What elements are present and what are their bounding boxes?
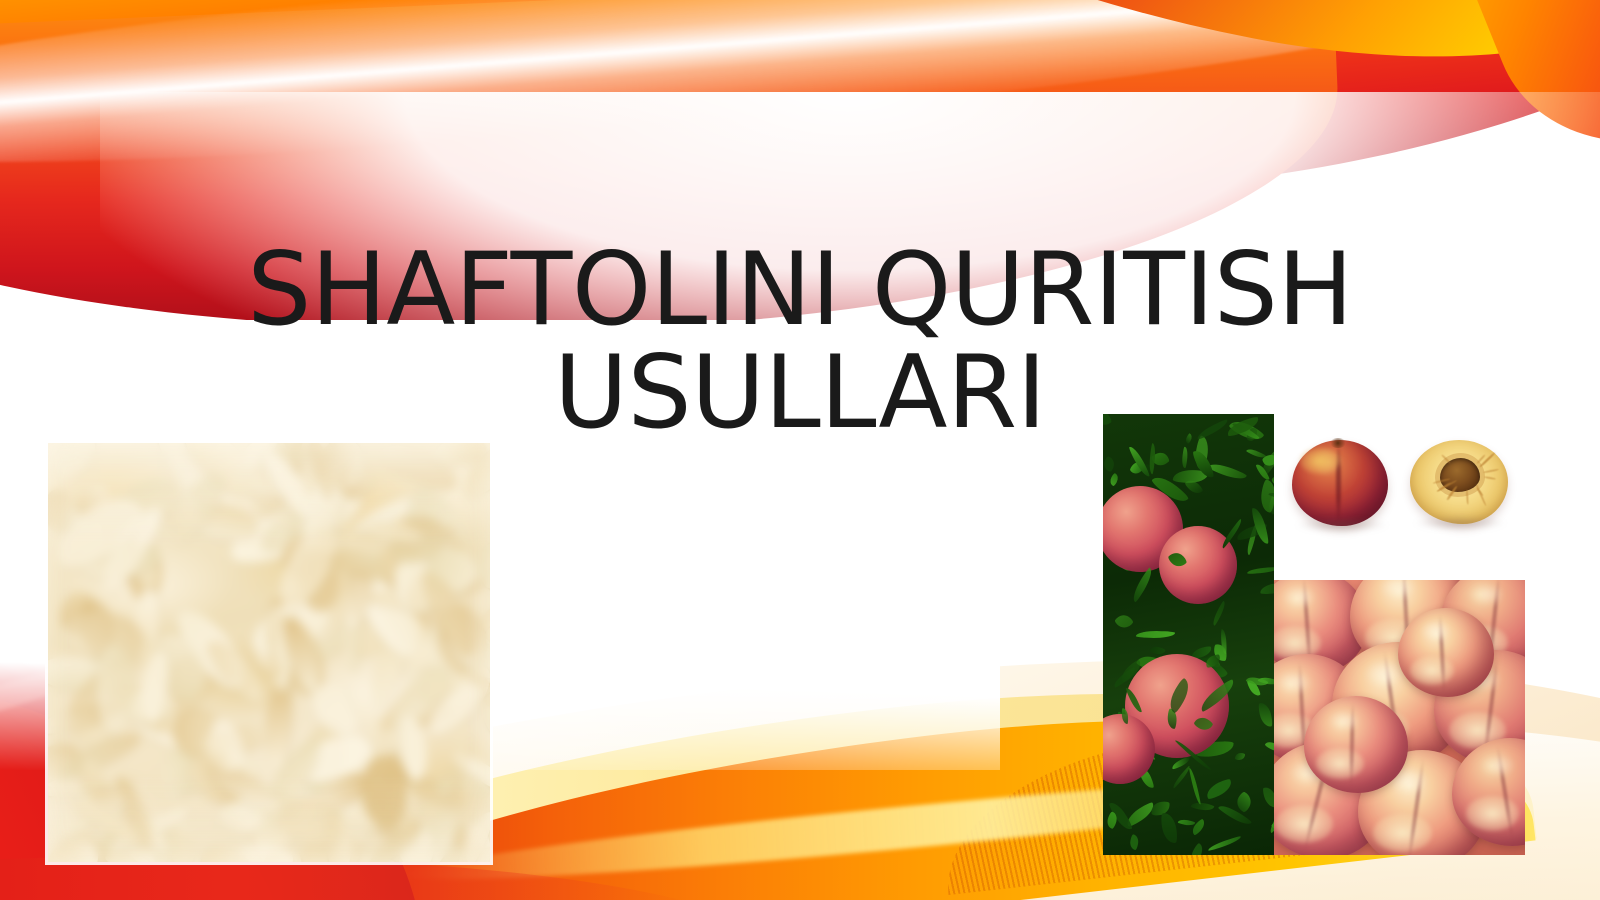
top-ribbon-highlight-streak bbox=[0, 0, 1523, 196]
top-ribbon-red-tail bbox=[608, 0, 1600, 119]
top-ribbon-yellow-band bbox=[0, 0, 1600, 259]
peach-collage-photo bbox=[1103, 414, 1525, 855]
dried-photo-vignette bbox=[48, 443, 490, 862]
collage-panel-peaches-on-tree bbox=[1103, 414, 1274, 855]
dried-peach-slices-photo bbox=[48, 443, 490, 862]
slide-title: SHAFTOLINI QURITISH USULLARI bbox=[170, 238, 1430, 444]
title-slide: SHAFTOLINI QURITISH USULLARI bbox=[0, 0, 1600, 900]
top-ribbon-corner-bands bbox=[1322, 0, 1600, 190]
collage-panel-pile-of-peaches bbox=[1274, 580, 1525, 855]
